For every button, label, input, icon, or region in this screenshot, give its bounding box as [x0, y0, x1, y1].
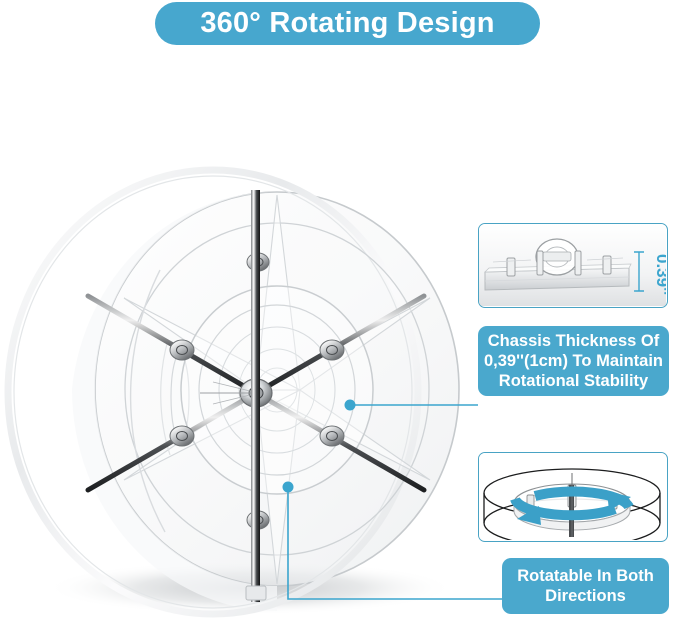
screw-upper-left — [170, 340, 194, 360]
product-infographic: 360° Rotating Design — [0, 0, 679, 629]
page-title: 360° Rotating Design — [200, 7, 494, 40]
screw-lower-right — [320, 426, 344, 446]
caption-chassis-thickness: Chassis Thickness Of 0,39''(1cm) To Main… — [478, 326, 669, 396]
caption-rotatable-text: Rotatable In Both Directions — [508, 566, 663, 606]
screw-lower-left — [170, 426, 194, 446]
support-rod-base — [246, 586, 266, 600]
screw-upper-right — [320, 340, 344, 360]
product-image — [0, 150, 480, 629]
title-banner: 360° Rotating Design — [155, 2, 540, 45]
caption-chassis-thickness-text: Chassis Thickness Of 0,39''(1cm) To Main… — [484, 331, 663, 391]
hub-plate — [181, 286, 373, 494]
support-rod — [251, 190, 260, 602]
inset-bidirectional-rotation — [478, 452, 668, 542]
thickness-value: 0.39'' — [653, 254, 666, 295]
inset-chassis-thickness: 0.39'' — [478, 223, 668, 308]
caption-rotatable-both-directions: Rotatable In Both Directions — [502, 558, 669, 614]
